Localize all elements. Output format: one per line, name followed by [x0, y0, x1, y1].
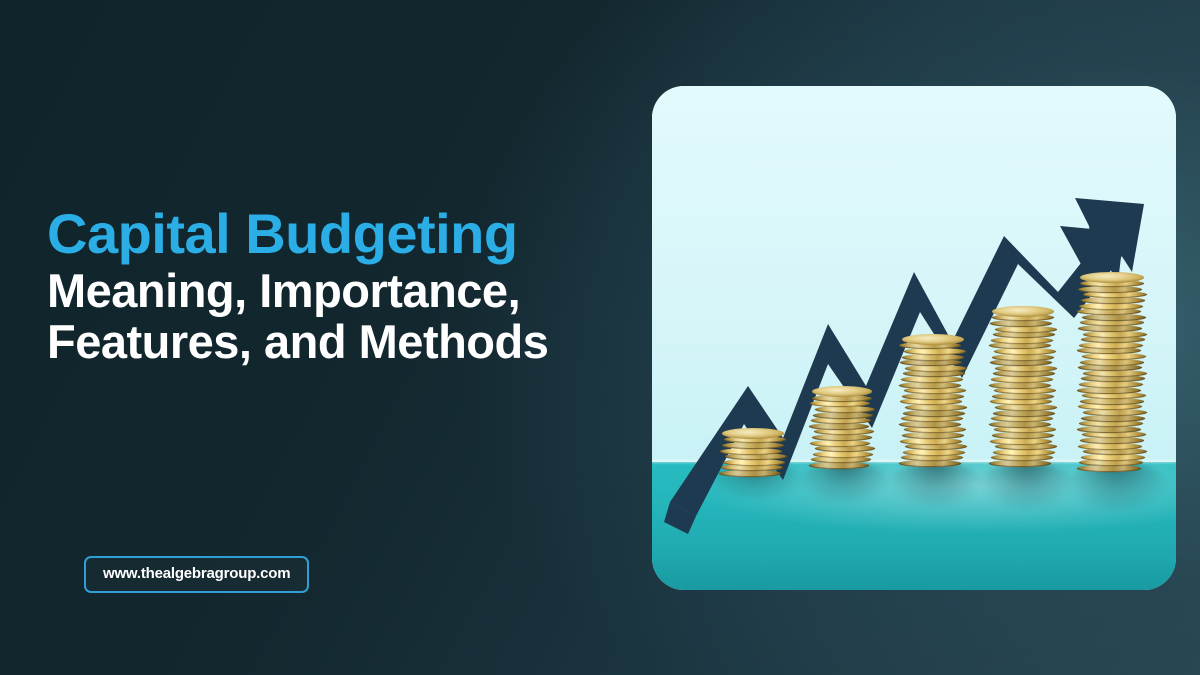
coin: [722, 442, 784, 449]
coin: [899, 460, 961, 467]
coin: [1078, 325, 1142, 332]
coin: [1083, 409, 1147, 416]
subtitle-line-1: Meaning, Importance,: [47, 266, 647, 317]
website-url-text: www.thealgebragroup.com: [103, 565, 290, 582]
coin-stack: [1080, 271, 1144, 472]
coin: [905, 404, 967, 411]
coin: [989, 460, 1051, 467]
page-title: Capital Budgeting: [47, 205, 647, 262]
coin: [809, 462, 869, 469]
coin: [719, 470, 781, 477]
page-subtitle: Meaning, Importance, Features, and Metho…: [47, 266, 647, 368]
coin: [990, 320, 1052, 327]
coin: [815, 406, 875, 413]
banner-canvas: Capital Budgeting Meaning, Importance, F…: [0, 0, 1200, 675]
website-url-badge[interactable]: www.thealgebragroup.com: [84, 556, 309, 593]
coin: [1077, 465, 1141, 472]
coin-stack: [722, 427, 784, 477]
coin: [902, 432, 964, 439]
coin: [995, 404, 1057, 411]
coin-top-face: [992, 306, 1054, 317]
hero-image-panel: [652, 86, 1176, 590]
coin: [991, 376, 1053, 383]
coin-stack: [812, 385, 872, 469]
coin: [1079, 381, 1143, 388]
coin: [1082, 353, 1146, 360]
coin: [1081, 297, 1145, 304]
coin-top-face: [1080, 272, 1144, 283]
subtitle-line-2: Features, and Methods: [47, 317, 647, 368]
coin-stack: [902, 333, 964, 467]
coin: [1080, 437, 1144, 444]
coin-top-face: [722, 428, 784, 439]
coin-stack: [992, 305, 1054, 467]
coin: [901, 376, 963, 383]
coin-top-face: [902, 334, 964, 345]
coin: [904, 348, 966, 355]
coin: [994, 348, 1056, 355]
coin: [992, 432, 1054, 439]
coin: [812, 434, 872, 441]
headline-block: Capital Budgeting Meaning, Importance, F…: [47, 205, 647, 368]
